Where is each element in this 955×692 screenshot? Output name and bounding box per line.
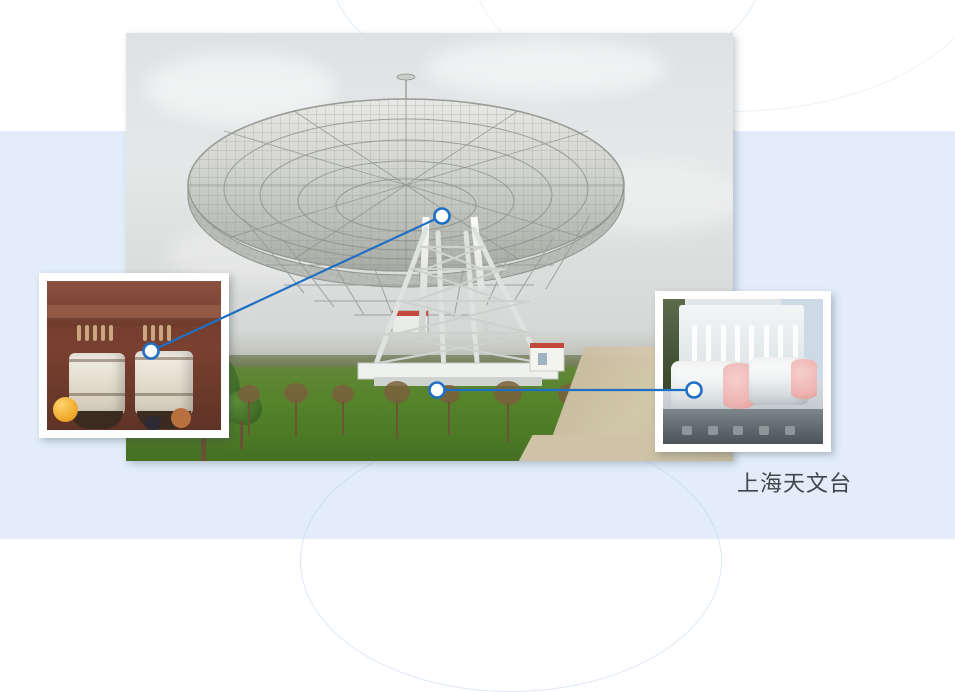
machinery-beam: [47, 305, 221, 318]
cylinder-ring: [135, 393, 193, 396]
cylinder-ring: [69, 393, 125, 396]
bolt: [93, 325, 97, 341]
base-foot: [682, 426, 692, 435]
base-foot: [708, 426, 718, 435]
cooling-fin: [706, 325, 711, 363]
base-foot: [733, 426, 743, 435]
worker-head: [171, 408, 191, 428]
photo-caption: 上海天文台: [737, 466, 852, 498]
bolt: [77, 325, 81, 341]
bolt: [167, 325, 171, 341]
inset-right[interactable]: [655, 291, 831, 452]
inset-right-image: [663, 299, 823, 444]
base-foot: [785, 426, 795, 435]
bolt: [101, 325, 105, 341]
orange-sphere: [53, 397, 78, 422]
decorative-swoosh: [300, 430, 722, 692]
bolt: [159, 325, 163, 341]
pink-end-cover-rear: [791, 359, 817, 399]
cooling-fin: [692, 325, 697, 363]
cooling-fin: [721, 325, 726, 363]
cylinder-ring: [135, 357, 193, 360]
bolt: [85, 325, 89, 341]
cooling-fin: [735, 325, 740, 363]
base-foot: [759, 426, 769, 435]
walking-path-spur: [513, 435, 652, 461]
inset-left-image: [47, 281, 221, 430]
cylinder-ring: [69, 359, 125, 362]
bolt: [143, 325, 147, 341]
inset-left[interactable]: [39, 273, 229, 438]
bolt: [109, 325, 113, 341]
worker-figure: [145, 416, 161, 430]
bearing-cylinder-right: [135, 351, 193, 415]
bolt: [151, 325, 155, 341]
machinery-upper-frame: [47, 281, 221, 326]
